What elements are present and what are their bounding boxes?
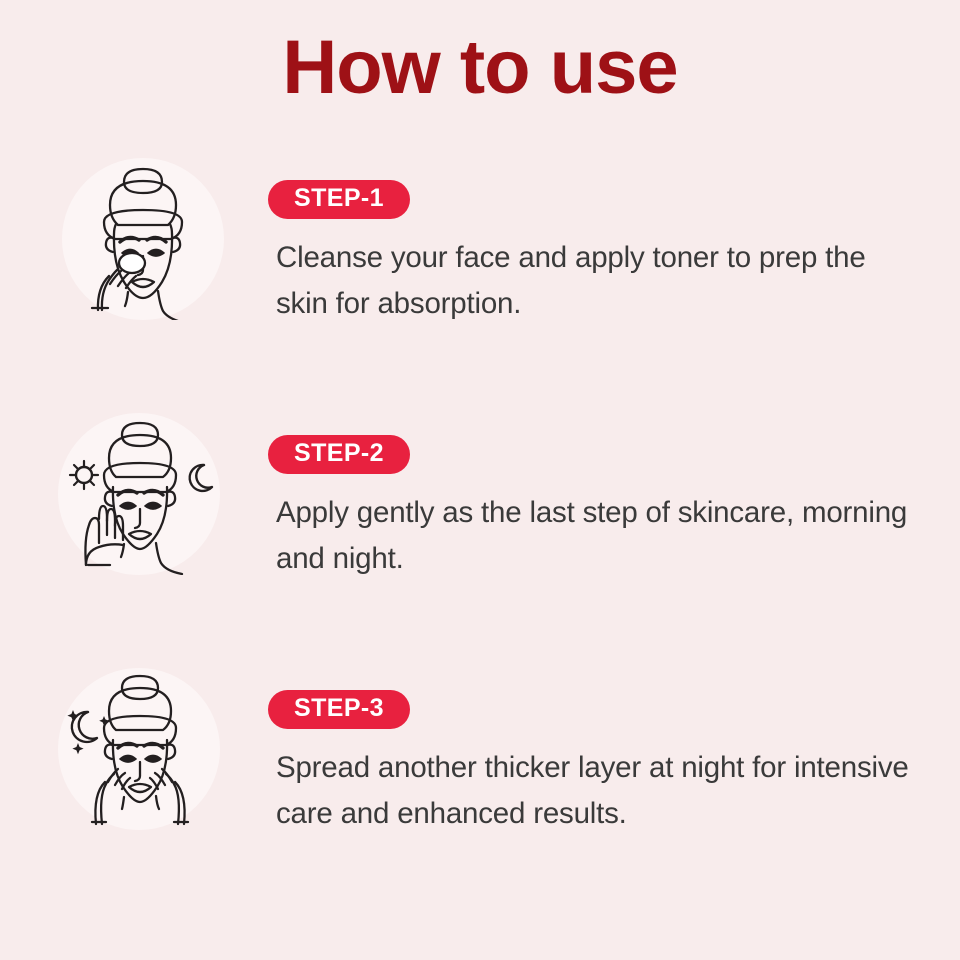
step-2-illustration bbox=[58, 413, 220, 575]
step-description: Apply gently as the last step of skincar… bbox=[276, 490, 921, 582]
sun-icon bbox=[70, 461, 98, 489]
step-badge[interactable]: STEP-3 bbox=[268, 690, 410, 729]
woman-cleansing-face-with-cotton-pad-icon bbox=[62, 158, 224, 320]
woman-massaging-face-at-night-icon bbox=[58, 668, 220, 830]
woman-applying-cream-day-and-night-icon bbox=[58, 413, 220, 575]
step-badge[interactable]: STEP-2 bbox=[268, 435, 410, 474]
step-row: STEP-1 Cleanse your face and apply toner… bbox=[0, 150, 960, 405]
step-3-body: STEP-3 Spread another thicker layer at n… bbox=[268, 690, 928, 837]
page-title: How to use bbox=[0, 26, 960, 110]
step-1-body: STEP-1 Cleanse your face and apply toner… bbox=[268, 180, 928, 327]
step-2-body: STEP-2 Apply gently as the last step of … bbox=[268, 435, 928, 582]
step-row: STEP-3 Spread another thicker layer at n… bbox=[0, 660, 960, 915]
step-description: Spread another thicker layer at night fo… bbox=[276, 745, 921, 837]
how-to-use-infographic: How to use bbox=[0, 0, 960, 960]
step-1-illustration bbox=[62, 158, 224, 320]
step-badge[interactable]: STEP-1 bbox=[268, 180, 410, 219]
steps-list: STEP-1 Cleanse your face and apply toner… bbox=[0, 150, 960, 915]
step-row: STEP-2 Apply gently as the last step of … bbox=[0, 405, 960, 660]
step-3-illustration bbox=[58, 668, 220, 830]
step-description: Cleanse your face and apply toner to pre… bbox=[276, 235, 921, 327]
crescent-moon-icon bbox=[190, 465, 212, 491]
